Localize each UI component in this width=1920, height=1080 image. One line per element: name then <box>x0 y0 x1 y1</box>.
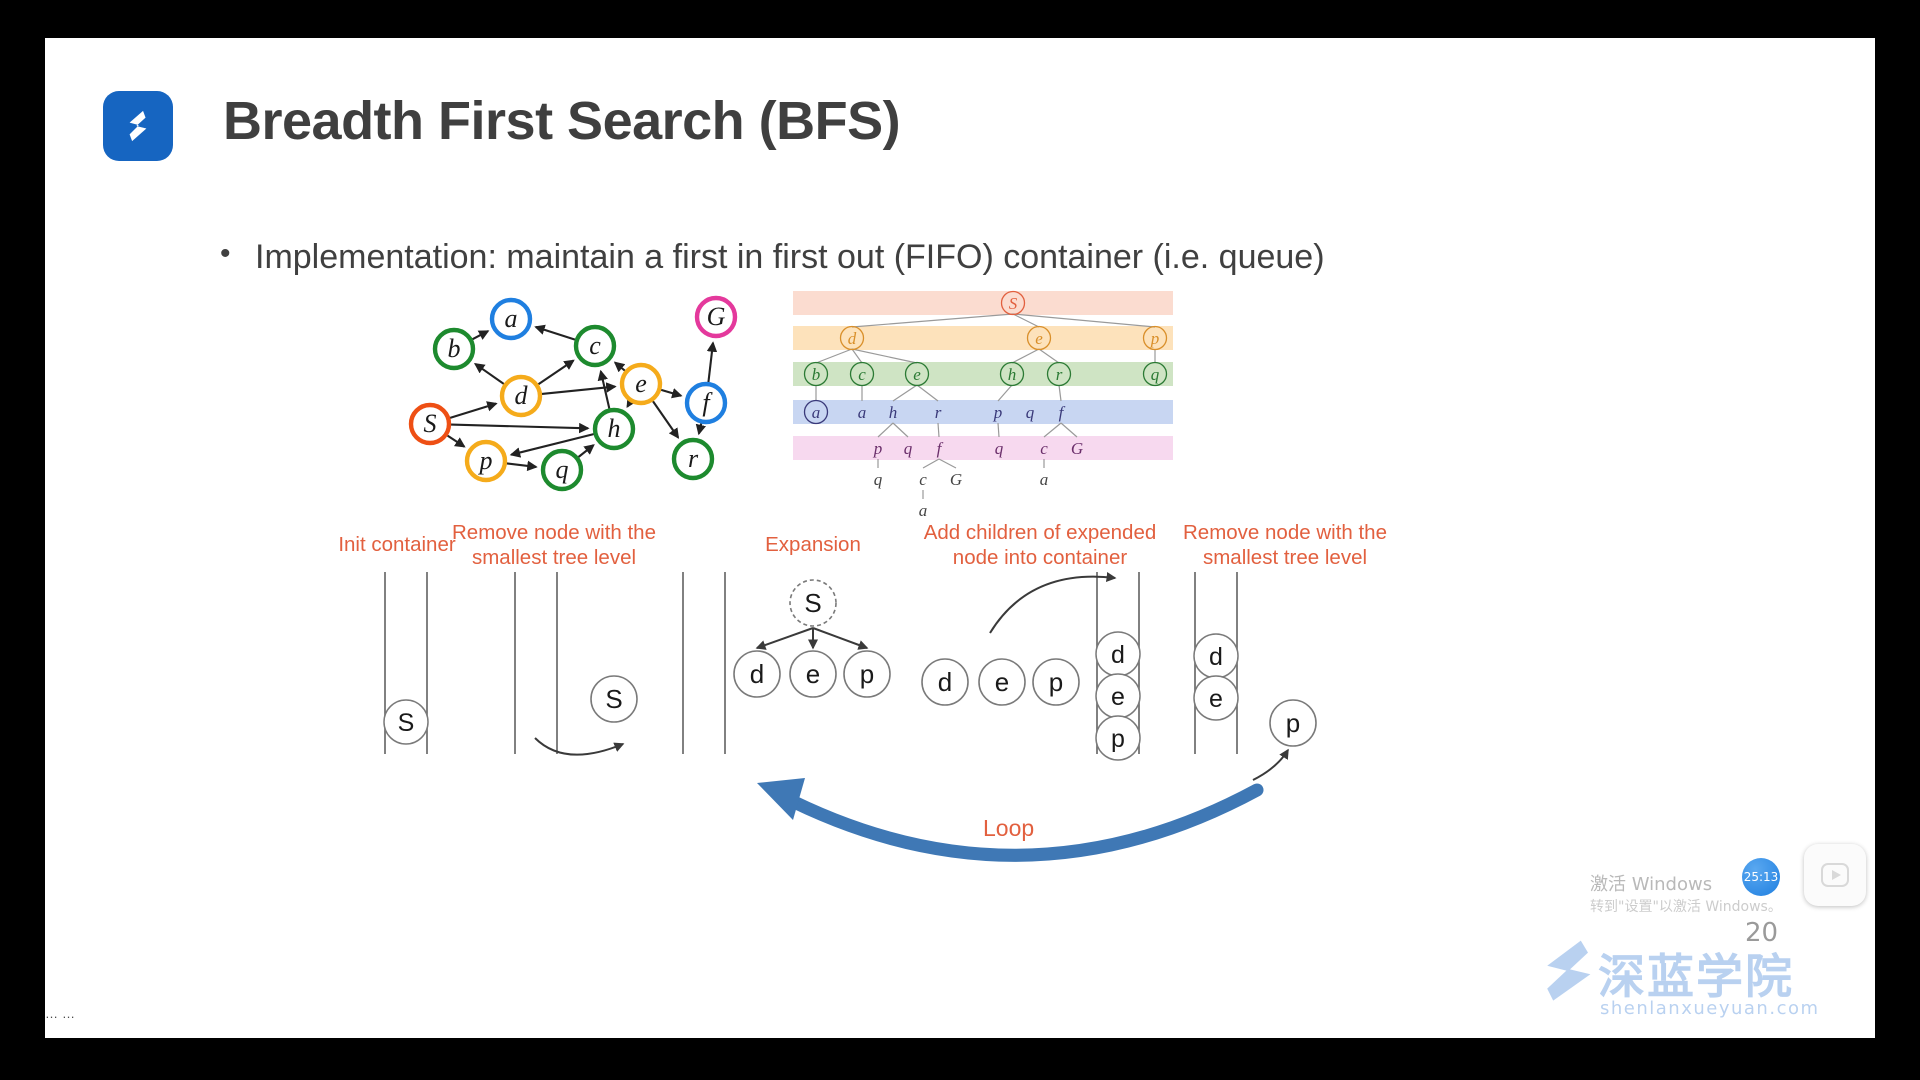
windows-activation-sub: 转到"设置"以激活 Windows。 <box>1590 896 1782 916</box>
expansion-child-d: d <box>734 651 780 697</box>
expansion-root: S <box>790 580 836 626</box>
expansion-child-e: e <box>790 651 836 697</box>
caption-line: node into container <box>900 545 1180 570</box>
queue-item-d: d <box>1096 632 1140 676</box>
loop-arrow-head <box>757 778 805 820</box>
container-3 <box>683 572 725 754</box>
queue-item-label: d <box>1111 641 1125 669</box>
queue-item-e: e <box>1194 676 1238 720</box>
timer-badge: 25:13 <box>1742 858 1780 896</box>
expansion-arrow <box>757 628 813 648</box>
removed-node-p: p <box>1270 700 1316 746</box>
caption-line: Remove node with the <box>414 520 694 545</box>
corner-text: …… <box>45 1006 79 1021</box>
caption-line: smallest tree level <box>1145 545 1425 570</box>
node-label: e <box>806 659 820 689</box>
shenlan-mark-icon <box>1540 936 1600 1004</box>
step-caption-remove-smallest-1: Remove node with thesmallest tree level <box>414 520 694 570</box>
removed-node-s: S <box>591 676 637 722</box>
node-label: e <box>995 667 1009 697</box>
node-label: S <box>804 588 821 618</box>
loop-label: Loop <box>983 815 1034 842</box>
caption-line: smallest tree level <box>414 545 694 570</box>
expansion-arrow <box>813 628 867 648</box>
windows-activation-title: 激活 Windows <box>1590 870 1712 896</box>
slide-canvas: Breadth First Search (BFS) • Implementat… <box>45 38 1875 1038</box>
queue-item-S: S <box>384 700 428 744</box>
loose-node-e: e <box>979 659 1025 705</box>
watermark-brand: 深蓝学院 <box>1598 938 1794 1007</box>
step-caption-add-children: Add children of expendednode into contai… <box>900 520 1180 570</box>
queue-item-label: S <box>398 709 415 737</box>
queue-item-label: e <box>1111 683 1125 711</box>
queue-item-label: p <box>1111 725 1125 753</box>
screen: Breadth First Search (BFS) • Implementat… <box>0 0 1920 1080</box>
queue-item-d: d <box>1194 634 1238 678</box>
queue-item-label: d <box>1209 643 1223 671</box>
node-label: p <box>860 659 874 689</box>
node-label: S <box>605 684 622 714</box>
node-label: d <box>938 667 952 697</box>
loose-node-d: d <box>922 659 968 705</box>
caption-line: Remove node with the <box>1145 520 1425 545</box>
node-label: p <box>1049 667 1063 697</box>
remove-arrow-1 <box>535 738 623 755</box>
watermark-url: shenlanxueyuan.com <box>1600 998 1820 1019</box>
node-label: p <box>1286 708 1300 738</box>
queue-item-label: e <box>1209 685 1223 713</box>
container-2 <box>515 572 557 754</box>
watermark: 深蓝学院 shenlanxueyuan.com <box>1540 928 1870 1038</box>
play-icon[interactable] <box>1804 844 1866 906</box>
queue-item-p: p <box>1096 716 1140 760</box>
node-label: d <box>750 659 764 689</box>
queue-item-e: e <box>1096 674 1140 718</box>
caption-line: Add children of expended <box>900 520 1180 545</box>
expansion-child-p: p <box>844 651 890 697</box>
loose-node-p: p <box>1033 659 1079 705</box>
step-caption-remove-smallest-2: Remove node with thesmallest tree level <box>1145 520 1425 570</box>
remove-arrow-2 <box>1253 750 1288 780</box>
